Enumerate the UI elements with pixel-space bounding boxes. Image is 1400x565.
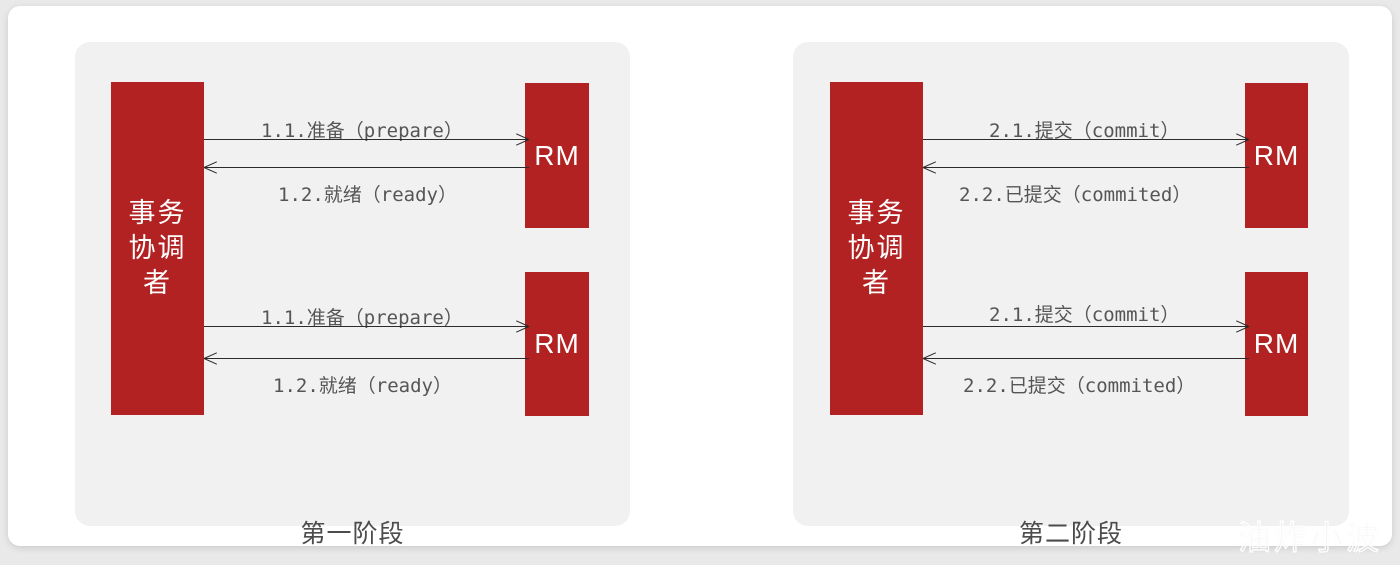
arrow-head-left-icon (923, 167, 936, 180)
watermark: 油炸小波 (1238, 511, 1382, 559)
transaction-coordinator-box: 事务 协调 者 (830, 82, 923, 415)
message-arrow-line (204, 139, 529, 140)
arrow-head-left-icon (923, 358, 936, 371)
coordinator-line-3: 者 (143, 266, 172, 301)
message-label-ready: 1.2.就绪（ready） (278, 180, 457, 207)
message-label-commited: 2.2.已提交（commited） (963, 371, 1195, 398)
phase-two-panel: 事务 协调 者 RM RM 2.1.提交（commit） 2.2.已提交（com… (793, 42, 1349, 526)
coordinator-line-1: 事务 (129, 196, 187, 231)
arrow-head-left-icon (204, 167, 217, 180)
transaction-coordinator-box: 事务 协调 者 (111, 82, 204, 415)
message-arrow-line (204, 326, 529, 327)
message-label-commited: 2.2.已提交（commited） (959, 180, 1191, 207)
arrow-head-right-icon (516, 326, 529, 339)
arrow-head-right-icon (1236, 326, 1249, 339)
diagram-card: 事务 协调 者 RM RM 1.1.准备（prepare） 1.2.就绪（rea… (8, 6, 1392, 546)
resource-manager-box: RM (1245, 272, 1308, 416)
arrow-head-right-icon (1236, 139, 1249, 152)
coordinator-line-2: 协调 (848, 231, 906, 266)
coordinator-line-3: 者 (862, 266, 891, 301)
arrow-head-right-icon (516, 139, 529, 152)
coordinator-line-2: 协调 (129, 231, 187, 266)
resource-manager-box: RM (1245, 83, 1308, 228)
stage-label: 第一阶段 (75, 514, 630, 550)
message-arrow-line (923, 139, 1249, 140)
resource-manager-box: RM (525, 272, 589, 416)
diagram-canvas: 事务 协调 者 RM RM 1.1.准备（prepare） 1.2.就绪（rea… (0, 0, 1400, 565)
message-arrow-line (204, 358, 529, 359)
arrow-head-left-icon (204, 358, 217, 371)
phase-one-panel: 事务 协调 者 RM RM 1.1.准备（prepare） 1.2.就绪（rea… (75, 42, 630, 526)
message-arrow-line (923, 167, 1249, 168)
resource-manager-box: RM (525, 83, 589, 228)
message-arrow-line (923, 358, 1249, 359)
message-label-commit: 2.1.提交（commit） (989, 300, 1179, 327)
message-arrow-line (204, 167, 529, 168)
coordinator-line-1: 事务 (848, 196, 906, 231)
message-label-ready: 1.2.就绪（ready） (273, 371, 452, 398)
message-arrow-line (923, 326, 1249, 327)
